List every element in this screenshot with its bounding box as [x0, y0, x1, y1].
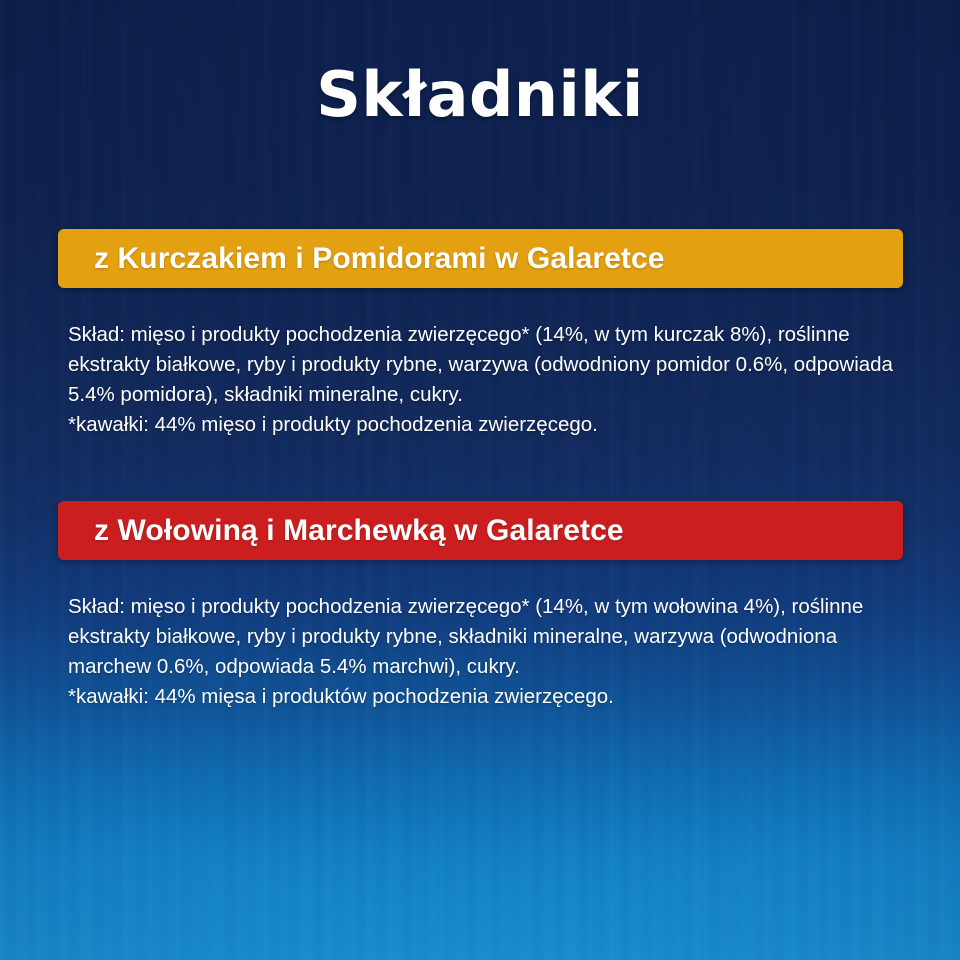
ingredients-section-beef: z Wołowiną i Marchewką w Galaretce Skład… [58, 501, 903, 712]
page-title: Składniki [0, 64, 960, 126]
variant-header-chicken-label: z Kurczakiem i Pomidorami w Galaretce [94, 242, 665, 276]
ingredients-section-chicken: z Kurczakiem i Pomidorami w Galaretce Sk… [58, 229, 903, 440]
ingredients-text-beef: Skład: mięso i produkty pochodzenia zwie… [58, 592, 903, 712]
ingredients-infographic: Składniki z Kurczakiem i Pomidorami w Ga… [0, 0, 960, 960]
variant-header-chicken: z Kurczakiem i Pomidorami w Galaretce [58, 229, 903, 288]
variant-header-beef-label: z Wołowiną i Marchewką w Galaretce [94, 514, 624, 548]
ingredients-text-chicken: Skład: mięso i produkty pochodzenia zwie… [58, 320, 903, 440]
variant-header-beef: z Wołowiną i Marchewką w Galaretce [58, 501, 903, 560]
